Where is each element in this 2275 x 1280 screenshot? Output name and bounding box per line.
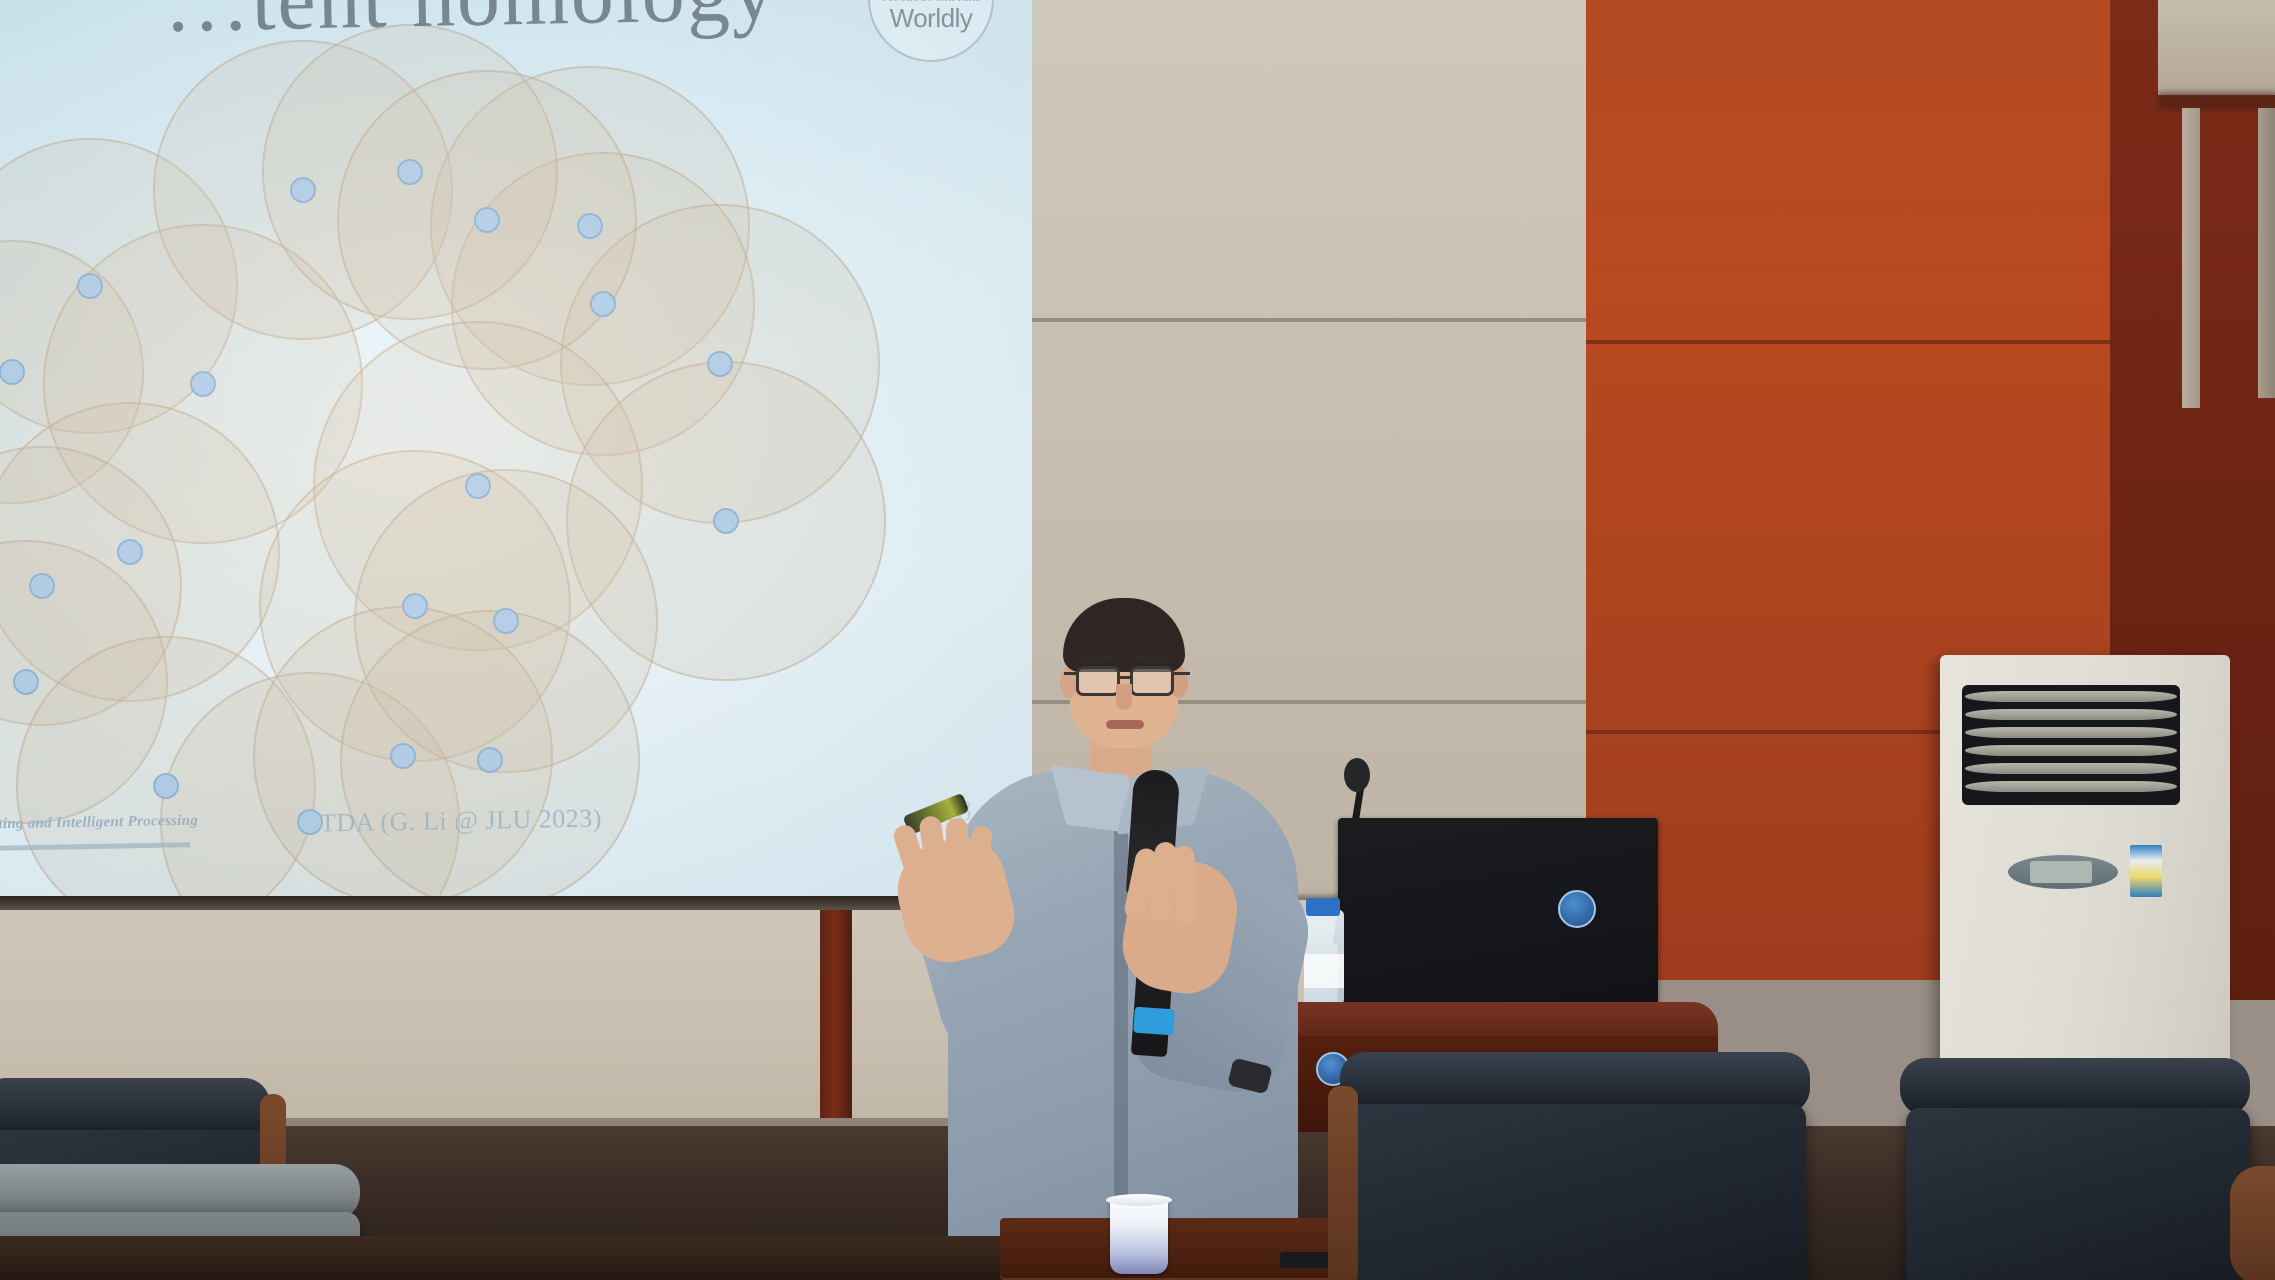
eyeglasses-temple-left [1064,672,1078,675]
data-point [290,177,316,203]
data-point [493,608,519,634]
monitor-logo-icon [1558,890,1596,928]
air-conditioner-louver [1965,763,2177,774]
data-point [477,747,503,773]
presenter [930,610,1310,1280]
data-point [465,473,491,499]
air-conditioner-grille [1962,685,2180,805]
eyeglasses-bridge [1120,676,1132,679]
air-conditioner-louver [1965,745,2177,756]
data-point [590,291,616,317]
data-point [13,669,39,695]
data-point [577,213,603,239]
projection-screen: …tent homology TOPOLOGY MATTERS Worldly … [0,0,1032,899]
data-point [77,273,103,299]
data-point [397,159,423,185]
presenter-nose [1116,684,1132,710]
data-point [713,508,739,534]
microphone-accent-ring [1133,1007,1175,1036]
ceiling-beam [2158,0,2275,95]
data-point [0,359,25,385]
data-point [707,351,733,377]
air-conditioner-louver [1965,781,2177,792]
eyeglasses-lens-left [1076,666,1120,696]
front-table-left [0,1236,1020,1280]
data-point [117,539,143,565]
chair-far-right [1900,1058,2275,1280]
data-point [190,371,216,397]
data-point [153,773,179,799]
air-conditioner-louver [1965,727,2177,738]
water-bottle-cap [1306,898,1340,916]
air-conditioner-louver [1965,709,2177,720]
data-point [29,573,55,599]
data-point [402,593,428,619]
slide-title: …tent homology [49,0,891,54]
chair-backrest [1906,1108,2250,1280]
air-conditioner-louver [1965,691,2177,702]
chair-backrest [1346,1104,1806,1280]
podium-monitor [1338,818,1658,1008]
chair-center-right [1328,1052,1848,1280]
slide-logo-text: Worldly [890,3,973,34]
wall-column-strip [2258,108,2275,398]
lecture-hall-photo: …tent homology TOPOLOGY MATTERS Worldly … [0,0,2275,1280]
wall-column-strip [2182,108,2200,408]
paper-cup [1110,1198,1168,1274]
projection-screen-frame [0,896,1032,910]
chair-armrest [2230,1166,2275,1280]
energy-label-sticker [2130,845,2162,897]
eyeglasses-lens-right [1130,666,1174,696]
presenter-mouth [1106,720,1144,729]
slide-caption: TDA (G. Li @ JLU 2023) [320,804,602,839]
wall-seam-line [1586,340,2126,344]
pillar-red [820,898,852,1133]
finger [1172,845,1198,924]
chair-wood-frame [1328,1086,1358,1280]
eyeglasses-temple-right [1174,672,1190,675]
air-conditioner-lcd-display [2030,861,2092,883]
data-point [474,207,500,233]
slide-logo: TOPOLOGY MATTERS Worldly [868,0,994,62]
microphone-icon [1344,758,1370,792]
water-bottle-label [1304,954,1344,988]
data-point [390,743,416,769]
paper-cup-rim [1106,1194,1172,1206]
wall-seam-line [1020,318,1600,322]
